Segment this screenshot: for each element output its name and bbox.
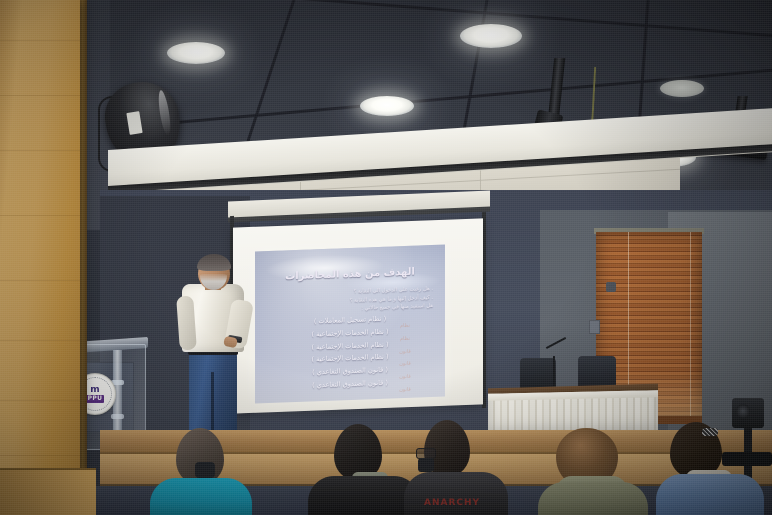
ceiling-light [460, 24, 522, 48]
microphone-stand [553, 356, 555, 386]
slide-faded-item: قانون [373, 383, 437, 398]
attendee-torso [656, 474, 764, 515]
wall-fixture [606, 282, 616, 292]
wooden-door-panel[interactable] [0, 0, 80, 515]
hair-clip-icon [702, 428, 718, 436]
door-base-trim [0, 468, 96, 515]
wall-outlet-plate[interactable] [589, 320, 600, 334]
podium-joint [111, 414, 124, 419]
camera-lens-icon [736, 404, 750, 418]
projected-slide: الهدف من هذه المحاضرات . هل رغبت على الد… [255, 245, 445, 404]
slide-faded-column: نظام نظام قانون قانون قانون قانون [373, 319, 437, 398]
ceiling-light [167, 42, 225, 64]
tripod-base [722, 452, 772, 466]
face-mask-icon [418, 458, 434, 472]
attendee-torso [150, 478, 252, 515]
blinds-cord[interactable] [690, 232, 691, 420]
lecture-hall-photo: الهدف من هذه المحاضرات . هل رغبت على الد… [0, 0, 772, 515]
attendee-torso [538, 482, 648, 515]
face-mask-icon [195, 462, 215, 478]
ceiling-light [360, 96, 414, 116]
chair [520, 358, 556, 388]
ceiling-light-off [660, 80, 704, 97]
shirt-print-text: ANARCHY [424, 498, 482, 512]
chair [578, 356, 616, 388]
